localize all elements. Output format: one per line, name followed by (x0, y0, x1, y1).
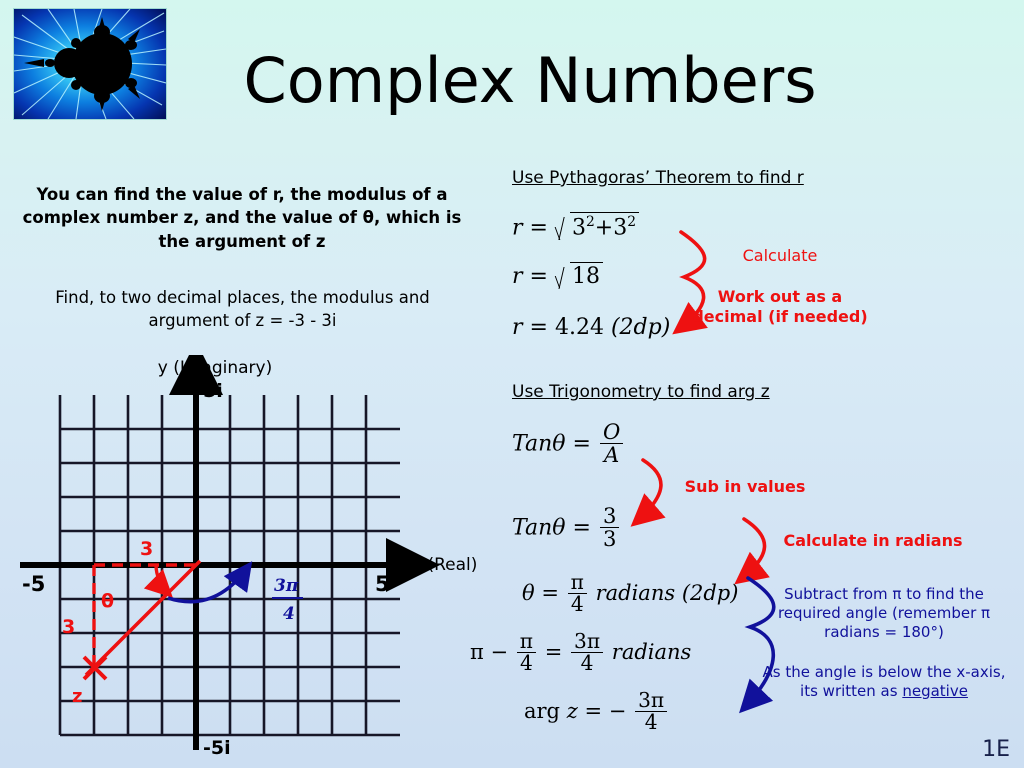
eq-t5-fraction: 3π 4 (635, 690, 667, 732)
eq-t2-den: 3 (600, 527, 619, 550)
pythagoras-heading: Use Pythagoras’ Theorem to find r (512, 168, 804, 188)
eq-r1-radical: 32+32 (557, 212, 639, 240)
y-axis-label: y (Imaginary) (158, 358, 272, 378)
argand-diagram: y (Imaginary) x (Real) (0, 355, 500, 765)
eq-t5-equals: = (584, 699, 602, 723)
slide-number: 1E (982, 737, 1010, 762)
eq-r2-equals: = (530, 264, 548, 289)
eq-t3-equals: = (541, 581, 559, 605)
x-right-tick-label: 5 (375, 572, 390, 596)
eq-r2-lhs: r (512, 264, 523, 289)
trigonometry-heading: Use Trigonometry to find arg z (512, 382, 770, 402)
x-axis-label: x (Real) (412, 555, 477, 575)
eq-r1-b-exp: 2 (627, 214, 636, 230)
eq-r2-radicand: 18 (570, 262, 603, 289)
eq-t3-den: 4 (568, 593, 587, 615)
eq-t4-equals: = (545, 640, 563, 664)
annotation-below-axis-emphasis: negative (902, 682, 968, 700)
eq-r1-a-exp: 2 (586, 214, 595, 230)
eq-r1-b: 3 (613, 215, 627, 240)
annotation-decimal: Work out as a decimal (if needed) (690, 287, 870, 327)
page-title: Complex Numbers (180, 48, 880, 113)
eq-r3-lhs: r (512, 315, 523, 340)
eq-t5-sign: − (609, 699, 627, 723)
adjacent-length-label: 3 (62, 616, 75, 638)
opposite-length-label: 3 (140, 538, 153, 560)
equation-r-squared: r = 32+32 (512, 212, 639, 240)
y-bottom-tick-label: -5i (203, 737, 231, 759)
eq-t3-unit: radians (596, 581, 676, 605)
eq-r2-radical: 18 (557, 262, 603, 289)
point-z-label: z (72, 686, 82, 707)
eq-t4-num2: 3π (571, 631, 603, 652)
annotation-below-axis: As the angle is below the x-axis, its wr… (762, 663, 1006, 701)
argument-arc (168, 567, 248, 602)
brace-calculate-radians (740, 519, 765, 580)
eq-t4-lhs: π (470, 640, 484, 664)
annotation-sub-values: Sub in values (655, 477, 835, 497)
mandelbrot-logo-image (13, 8, 167, 120)
eq-t4-minus: − (491, 640, 509, 664)
task-paragraph: Find, to two decimal places, the modulus… (30, 287, 455, 333)
arc-fraction-numerator: 3π (274, 576, 299, 596)
eq-t5-den: 4 (635, 711, 667, 733)
eq-r1-a: 3 (572, 215, 586, 240)
annotation-below-axis-text: As the angle is below the x-axis, its wr… (763, 663, 1006, 700)
eq-r3-suffix: (2dp) (611, 315, 670, 340)
eq-t4-den2: 4 (571, 652, 603, 674)
eq-t4-den1: 4 (517, 652, 536, 674)
eq-r1-plus: + (595, 215, 613, 240)
annotation-subtract-from-pi: Subtract from π to find the required ang… (752, 585, 1016, 641)
eq-t1-den: A (600, 443, 623, 466)
eq-t4-unit: radians (612, 640, 692, 664)
eq-r1-lhs: r (512, 215, 523, 240)
x-left-tick-label: -5 (22, 572, 45, 596)
annotation-calculate: Calculate (700, 246, 860, 266)
eq-t2-fraction: 3 3 (600, 505, 619, 549)
y-top-tick-label: 5i (203, 380, 223, 402)
eq-t3-fraction: π 4 (568, 572, 587, 614)
eq-r1-equals: = (530, 215, 548, 240)
intro-paragraph: You can find the value of r, the modulus… (22, 183, 462, 253)
eq-r3-equals: = (530, 315, 548, 340)
eq-t4-num1: π (517, 631, 536, 652)
annotation-calculate-radians: Calculate in radians (778, 531, 968, 551)
eq-t1-fraction: O A (600, 421, 623, 465)
equation-pi-minus-pi4: π − π 4 = 3π 4 radians (470, 631, 691, 673)
eq-t5-var: z (567, 699, 578, 723)
eq-t1-num: O (600, 421, 623, 443)
arc-fraction-denominator: 4 (283, 604, 295, 624)
mandelbrot-icon (14, 9, 166, 119)
equation-tan-33: Tanθ = 3 3 (512, 505, 621, 549)
eq-t3-num: π (568, 572, 587, 593)
theta-label: θ (101, 590, 114, 612)
eq-t2-equals: = (573, 516, 591, 541)
eq-t5-num: 3π (635, 690, 667, 711)
slide-canvas: Complex Numbers You can find the value o… (0, 0, 1024, 768)
equation-arg-z: arg z = − 3π 4 (524, 690, 669, 732)
eq-t1-equals: = (573, 432, 591, 457)
eq-t2-num: 3 (600, 505, 619, 527)
eq-t4-fraction-1: π 4 (517, 631, 536, 673)
eq-t3-suffix: (2dp) (682, 581, 739, 605)
equation-theta-pi4: θ = π 4 radians (2dp) (522, 572, 738, 614)
equation-tan-oa: Tanθ = O A (512, 421, 625, 465)
eq-t3-lhs: θ (522, 581, 535, 605)
eq-t1-lhs: Tanθ (512, 432, 566, 457)
eq-t4-fraction-2: 3π 4 (571, 631, 603, 673)
eq-r3-value: 4.24 (555, 315, 604, 340)
eq-t2-lhs: Tanθ (512, 516, 566, 541)
eq-t5-lhs: arg (524, 699, 560, 723)
equation-r-value: r = 4.24 (2dp) (512, 315, 670, 340)
equation-r-root18: r = 18 (512, 262, 603, 289)
